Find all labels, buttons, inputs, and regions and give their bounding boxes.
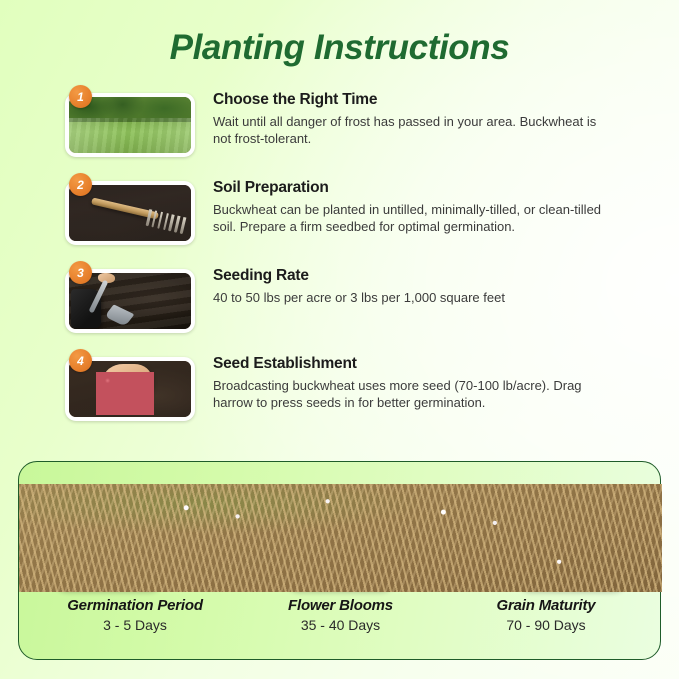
step-text-4: Seed Establishment Broadcasting buckwhea… [213, 349, 625, 411]
step-thumbnail-wrap-2: 2 [65, 173, 195, 245]
growth-timeline-panel: Germination Period 3 - 5 Days Flower Blo… [18, 461, 661, 660]
step-thumbnail-wrap-3: 3 [65, 261, 195, 333]
step-body-1: Wait until all danger of frost has passe… [213, 113, 613, 147]
timeline-stage-label-1: Germination Period 3 - 5 Days [19, 597, 251, 633]
timeline-stage-days-1: 3 - 5 Days [19, 617, 251, 633]
step-thumbnail-wrap-4: 4 [65, 349, 195, 421]
timeline-stage-days-3: 70 - 90 Days [430, 617, 662, 633]
step-text-3: Seeding Rate 40 to 50 lbs per acre or 3 … [213, 261, 625, 306]
timeline-labels-row: Germination Period 3 - 5 Days Flower Blo… [19, 597, 662, 633]
step-title-4: Seed Establishment [213, 355, 625, 373]
step-number-badge-1: 1 [69, 85, 92, 108]
timeline-stage-name-3: Grain Maturity [430, 597, 662, 614]
step-number-badge-3: 3 [69, 261, 92, 284]
step-title-2: Soil Preparation [213, 179, 625, 197]
step-number-badge-2: 2 [69, 173, 92, 196]
timeline-stage-name-2: Flower Blooms [251, 597, 430, 614]
step-title-1: Choose the Right Time [213, 91, 625, 109]
step-number-badge-4: 4 [69, 349, 92, 372]
step-item-3: 3 Seeding Rate 40 to 50 lbs per acre or … [65, 261, 625, 333]
step-text-2: Soil Preparation Buckwheat can be plante… [213, 173, 625, 235]
timeline-stage-image-3 [494, 486, 652, 591]
step-body-2: Buckwheat can be planted in untilled, mi… [213, 201, 613, 235]
timeline-stage-name-1: Germination Period [19, 597, 251, 614]
timeline-stage-label-2: Flower Blooms 35 - 40 Days [251, 597, 430, 633]
step-body-3: 40 to 50 lbs per acre or 3 lbs per 1,000… [213, 289, 613, 306]
step-body-4: Broadcasting buckwheat uses more seed (7… [213, 377, 613, 411]
mature-buckwheat-field-photo [516, 486, 629, 591]
page-title: Planting Instructions [0, 28, 679, 68]
timeline-stage-days-2: 35 - 40 Days [251, 617, 430, 633]
timeline-images-row [19, 484, 662, 592]
step-title-3: Seeding Rate [213, 267, 625, 285]
planting-instructions-infographic: Planting Instructions 1 Choose the Right… [0, 0, 679, 679]
step-text-1: Choose the Right Time Wait until all dan… [213, 85, 625, 147]
step-item-2: 2 Soil Preparation Buckwheat can be plan… [65, 173, 625, 245]
step-item-4: 4 Seed Establishment Broadcasting buckwh… [65, 349, 625, 421]
steps-list: 1 Choose the Right Time Wait until all d… [65, 85, 625, 437]
timeline-stage-label-3: Grain Maturity 70 - 90 Days [430, 597, 662, 633]
step-thumbnail-wrap-1: 1 [65, 85, 195, 157]
step-item-1: 1 Choose the Right Time Wait until all d… [65, 85, 625, 157]
